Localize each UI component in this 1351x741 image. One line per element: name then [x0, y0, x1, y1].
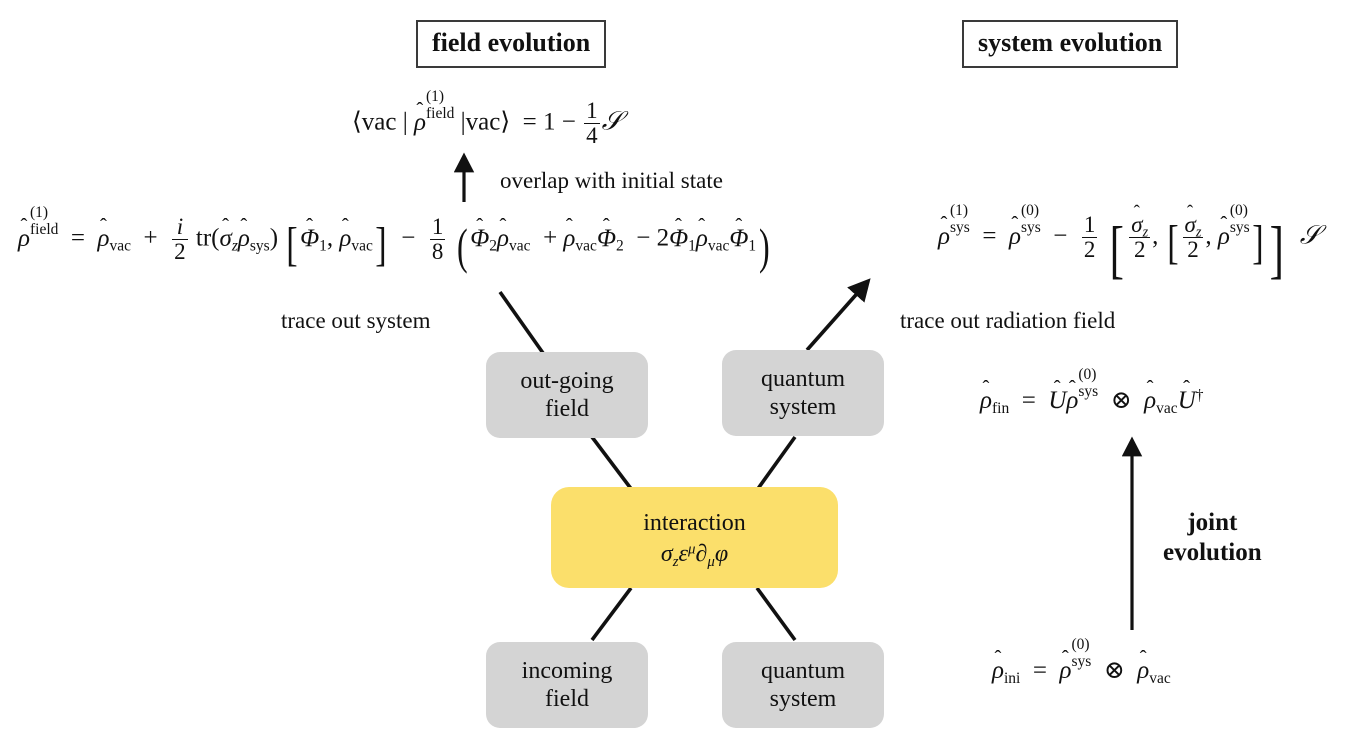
node-quantum-system-top[interactable]: quantum system — [722, 350, 884, 436]
label-overlap-with-initial-state: overlap with initial state — [500, 168, 723, 194]
arrow-system-to-field-eq — [807, 288, 862, 350]
node-incoming-field[interactable]: incoming field — [486, 642, 648, 728]
node-interaction[interactable]: interaction σzεμ∂μφ — [551, 487, 838, 588]
node-quantum-system-top-line2: system — [770, 393, 837, 421]
node-incoming-field-line1: incoming — [522, 657, 613, 685]
node-outgoing-field-line1: out-going — [520, 367, 613, 395]
equation-overlap: ⟨vac | ˆρ(1)field |vac⟩ = 1 − 14𝒮 — [352, 100, 622, 148]
node-quantum-system-bottom-line1: quantum — [761, 657, 845, 685]
node-outgoing-field-line2: field — [545, 395, 589, 423]
node-quantum-system-bottom-line2: system — [770, 685, 837, 713]
header-field-evolution: field evolution — [416, 20, 606, 68]
label-joint-evolution-line1: joint — [1187, 509, 1237, 536]
line-outgoing-to-interaction — [592, 437, 632, 490]
line-outgoing-to-field-eq — [500, 292, 543, 353]
node-outgoing-field[interactable]: out-going field — [486, 352, 648, 438]
equation-final-state: ˆρfin = ˆUˆρ(0)sys ⊗ ˆρvacˆU† — [980, 380, 1204, 413]
label-joint-evolution: joint evolution — [1163, 508, 1262, 568]
line-system-to-interaction — [757, 437, 795, 490]
label-trace-out-radiation-field: trace out radiation field — [900, 308, 1115, 334]
equation-system-evolution: ˆρ(1)sys = ˆρ(0)sys − 12 [ˆσz2, [ˆσz2, ˆ… — [938, 214, 1320, 270]
equation-field-evolution: ˆρ(1)field = ˆρvac + i2 tr(ˆσzˆρsys) [ˆΦ… — [18, 216, 773, 264]
node-quantum-system-bottom[interactable]: quantum system — [722, 642, 884, 728]
node-interaction-formula: σzεμ∂μφ — [661, 542, 728, 566]
equation-initial-state: ˆρini = ˆρ(0)sys ⊗ ˆρvac — [992, 650, 1171, 683]
node-quantum-system-top-line1: quantum — [761, 365, 845, 393]
line-interaction-to-incoming — [592, 588, 631, 640]
connector-layer — [0, 0, 1351, 741]
node-incoming-field-line2: field — [545, 685, 589, 713]
header-system-evolution: system evolution — [962, 20, 1178, 68]
node-interaction-label: interaction — [643, 509, 746, 537]
label-joint-evolution-line2: evolution — [1163, 539, 1262, 566]
line-interaction-to-system-bottom — [757, 588, 795, 640]
label-trace-out-system: trace out system — [281, 308, 430, 334]
